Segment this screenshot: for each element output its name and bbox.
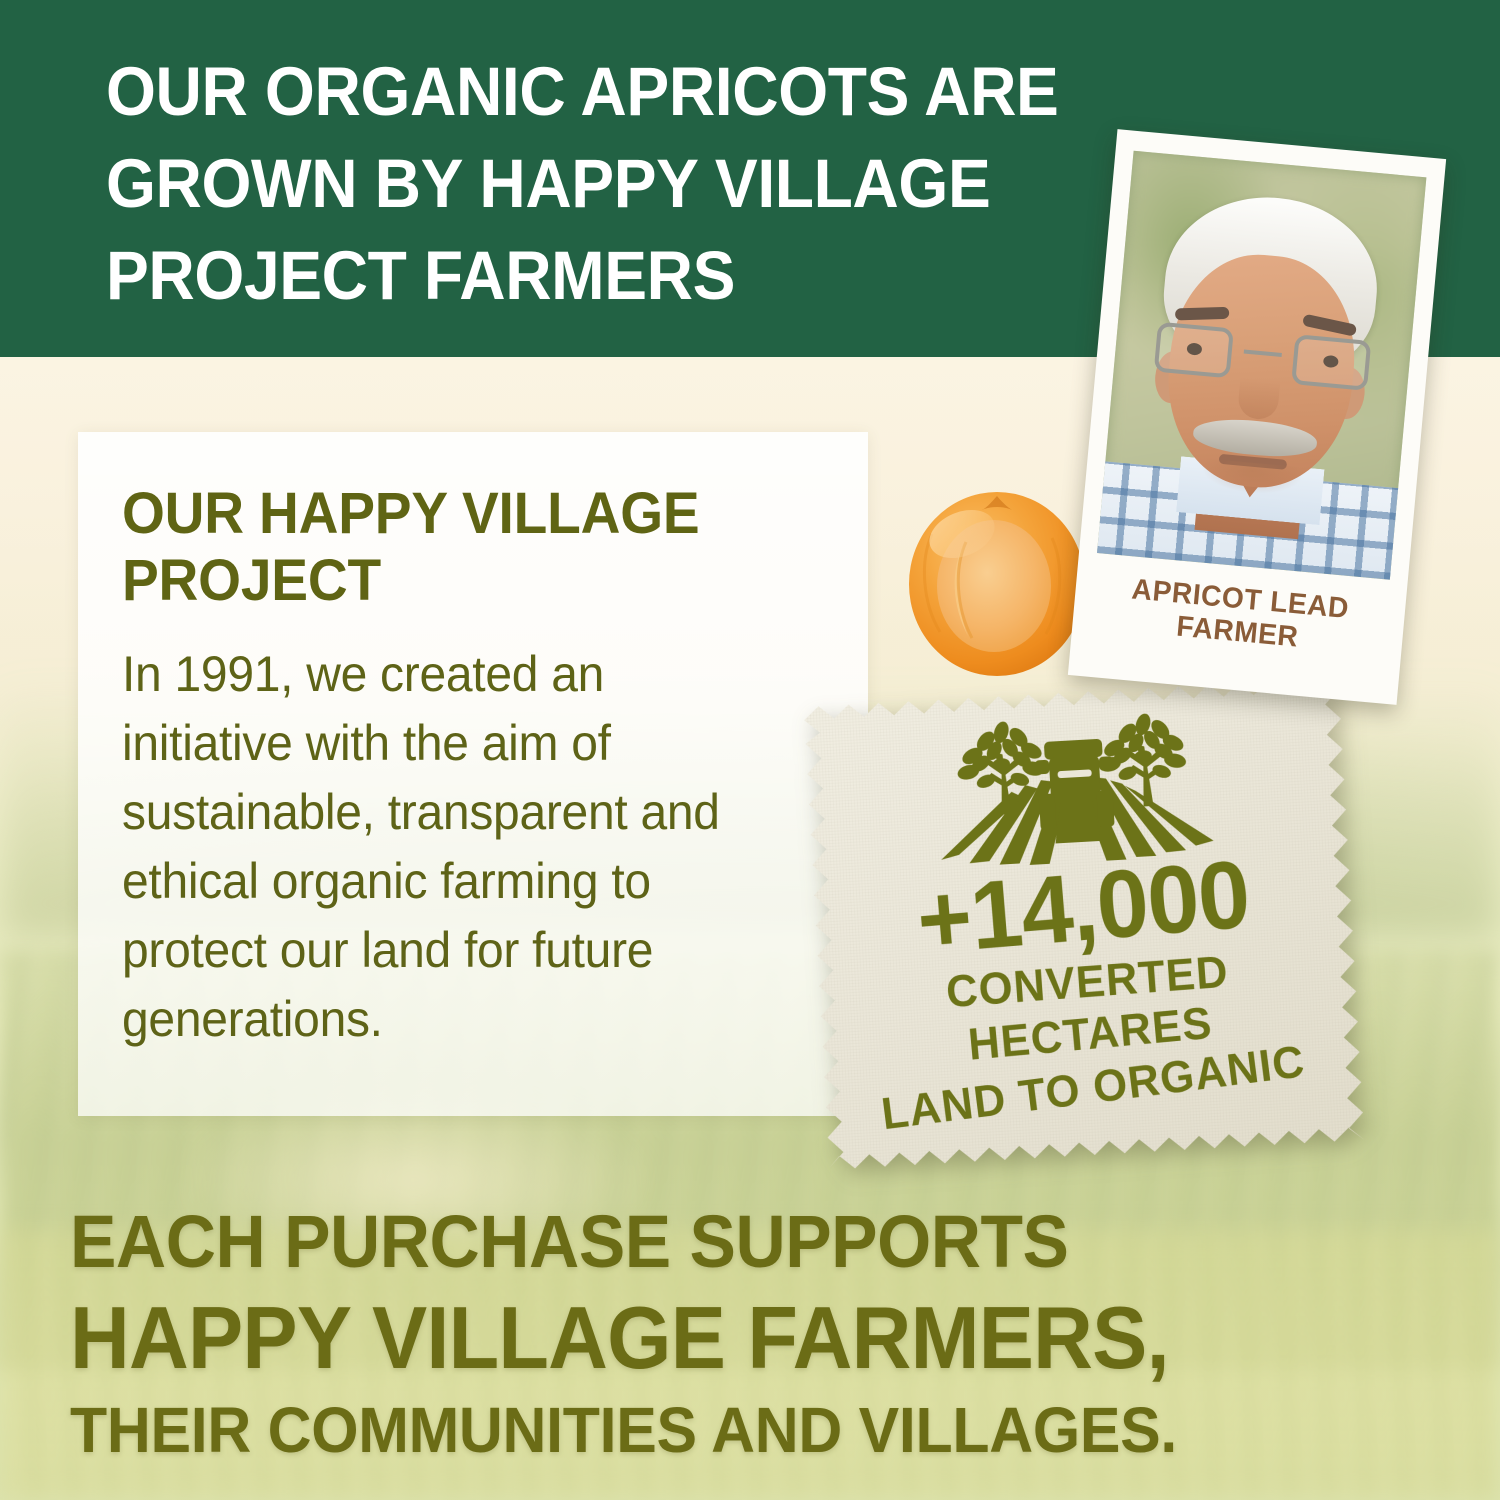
photo-eyeglass-right (1291, 334, 1371, 391)
farmer-polaroid: APRICOT LEAD FARMER (1068, 129, 1446, 705)
stamp-content: +14,000 CONVERTED HECTARES LAND TO ORGAN… (803, 671, 1365, 1174)
project-card: OUR HAPPY VILLAGE PROJECT In 1991, we cr… (78, 432, 868, 1116)
footer-headline: EACH PURCHASE SUPPORTS HAPPY VILLAGE FAR… (70, 1198, 1470, 1470)
header-title-line-1: OUR ORGANIC APRICOTS ARE (106, 46, 1055, 138)
photo-eyebrow-left (1175, 307, 1229, 321)
footer-line-3: THEIR COMMUNITIES AND VILLAGES. (70, 1390, 1400, 1470)
infographic-canvas: OUR ORGANIC APRICOTS ARE GROWN BY HAPPY … (0, 0, 1500, 1500)
farmer-photo (1097, 151, 1426, 580)
apricot-half-icon (902, 482, 1092, 680)
photo-eyeglass-left (1154, 322, 1234, 379)
hectares-stat-stamp: +14,000 CONVERTED HECTARES LAND TO ORGAN… (803, 671, 1365, 1174)
header-title: OUR ORGANIC APRICOTS ARE GROWN BY HAPPY … (106, 46, 1055, 322)
footer-line-2: HAPPY VILLAGE FARMERS, (70, 1286, 1386, 1390)
header-title-line-3: PROJECT FARMERS (106, 230, 1055, 322)
polaroid-caption: APRICOT LEAD FARMER (1094, 570, 1384, 662)
header-title-line-2: GROWN BY HAPPY VILLAGE (106, 138, 1055, 230)
project-card-heading: OUR HAPPY VILLAGE PROJECT (122, 480, 778, 614)
footer-line-1: EACH PURCHASE SUPPORTS (70, 1198, 1386, 1286)
project-card-body: In 1991, we created an initiative with t… (122, 640, 784, 1054)
